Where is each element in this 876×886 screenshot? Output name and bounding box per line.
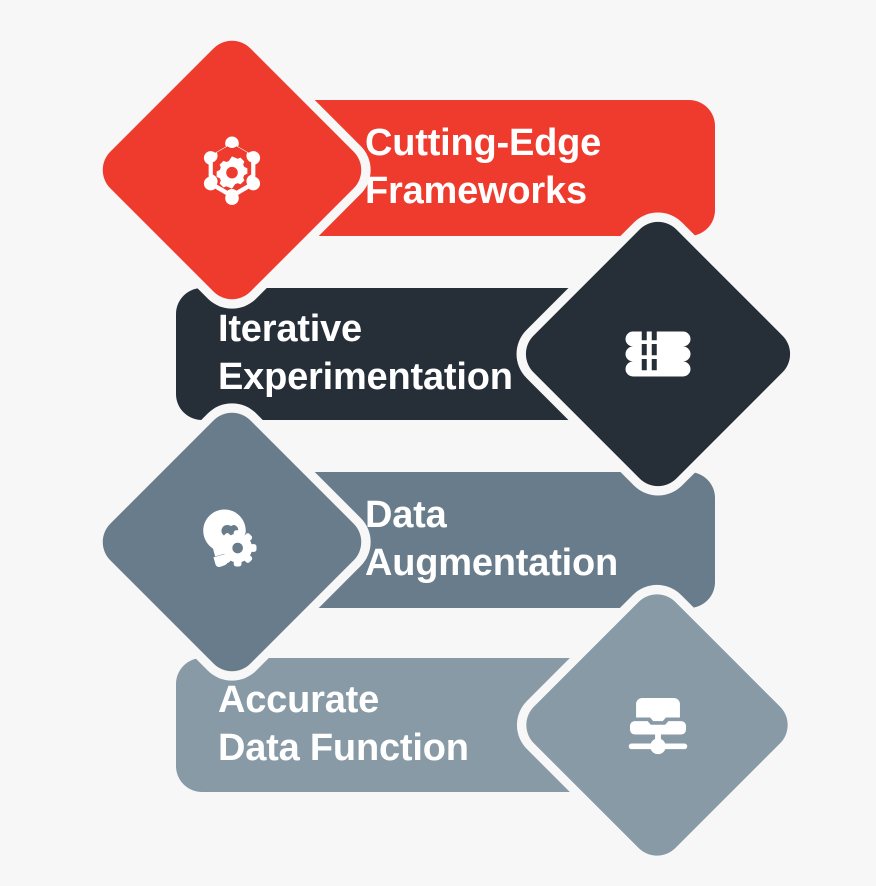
feature-label-3: Data Augmentation (365, 492, 618, 588)
infographic-canvas: Cutting-Edge Frameworks Iterative Experi… (0, 0, 876, 886)
feature-diamond-3[interactable] (79, 389, 384, 694)
feature-diamond-1[interactable] (79, 17, 384, 322)
feature-diamond-2[interactable] (502, 198, 813, 509)
feature-diamond-4[interactable] (503, 571, 811, 879)
feature-label-4: Accurate Data Function (218, 677, 469, 773)
feature-label-1: Cutting-Edge Frameworks (365, 120, 601, 216)
feature-label-2: Iterative Experimentation (218, 306, 513, 402)
